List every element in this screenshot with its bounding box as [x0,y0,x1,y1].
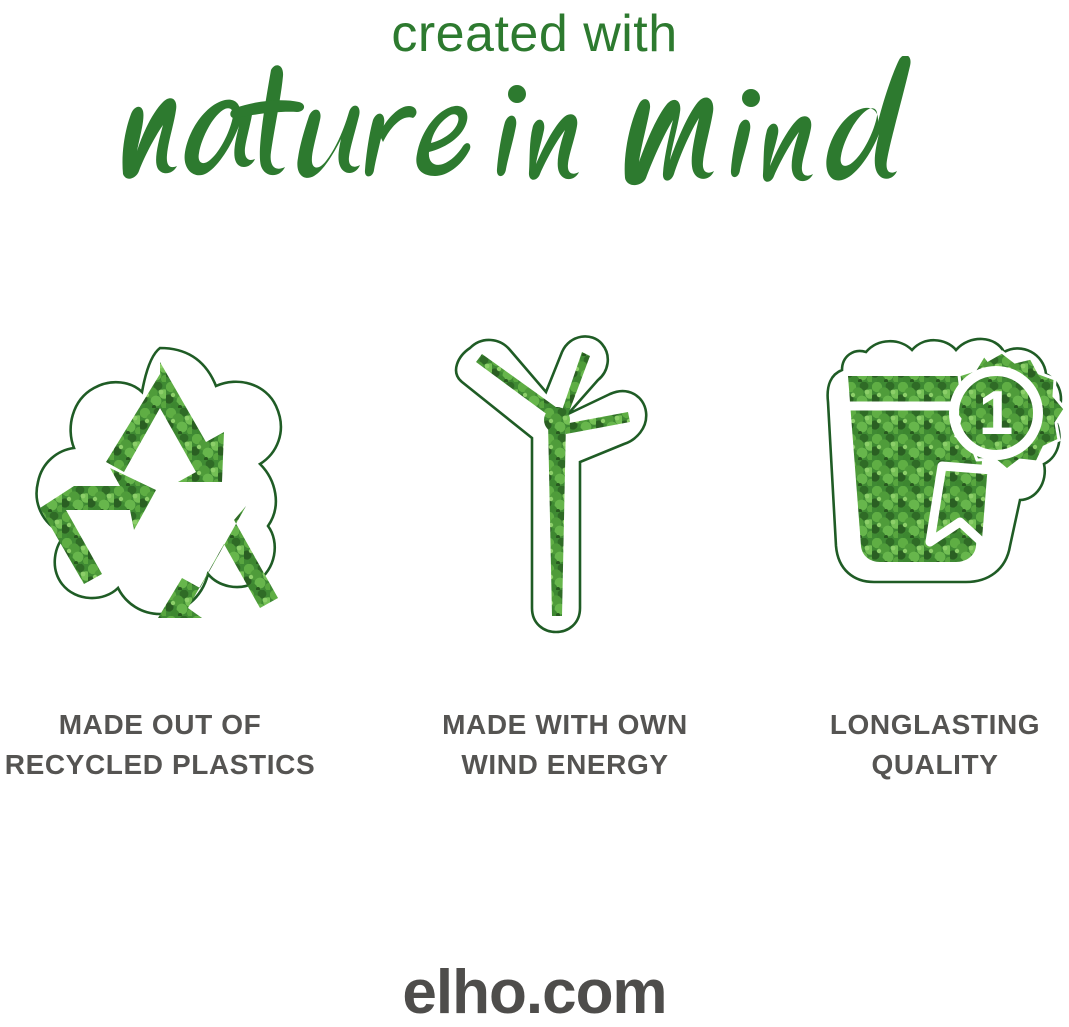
caption-wind-energy: MADE WITH OWN WIND ENERGY [405,705,725,785]
caption-recycled-plastics: MADE OUT OF RECYCLED PLASTICS [0,705,320,785]
feature-caption-row: MADE OUT OF RECYCLED PLASTICS MADE WITH … [0,705,1069,815]
caption-wind-energy-line-1: MADE WITH OWN [405,705,725,745]
headline-line-2-script [0,56,1069,186]
caption-recycled-plastics-line-2: RECYCLED PLASTICS [0,745,320,785]
caption-recycled-plastics-line-1: MADE OUT OF [0,705,320,745]
recycle-icon [10,330,310,640]
wind-turbine-icon [440,330,680,640]
award-pot-icon: 1 [820,330,1069,640]
feature-icon-quality: 1 [820,330,1069,640]
feature-icon-row: 1 [0,330,1069,640]
caption-longlasting-quality: LONGLASTING QUALITY [795,705,1069,785]
caption-wind-energy-line-2: WIND ENERGY [405,745,725,785]
caption-longlasting-quality-line-1: LONGLASTING [795,705,1069,745]
feature-icon-recycle [10,330,310,640]
footer: elho.com [0,962,1069,1024]
award-badge-number: 1 [979,379,1013,448]
nature-in-mind-script-icon [85,56,985,191]
feature-icon-wind [440,330,680,640]
poster-canvas: created with [0,0,1069,1024]
caption-longlasting-quality-line-2: QUALITY [795,745,1069,785]
brand-website[interactable]: elho.com [0,962,1069,1024]
headline-line-1: created with [0,6,1069,62]
headline-block: created with [0,0,1069,186]
